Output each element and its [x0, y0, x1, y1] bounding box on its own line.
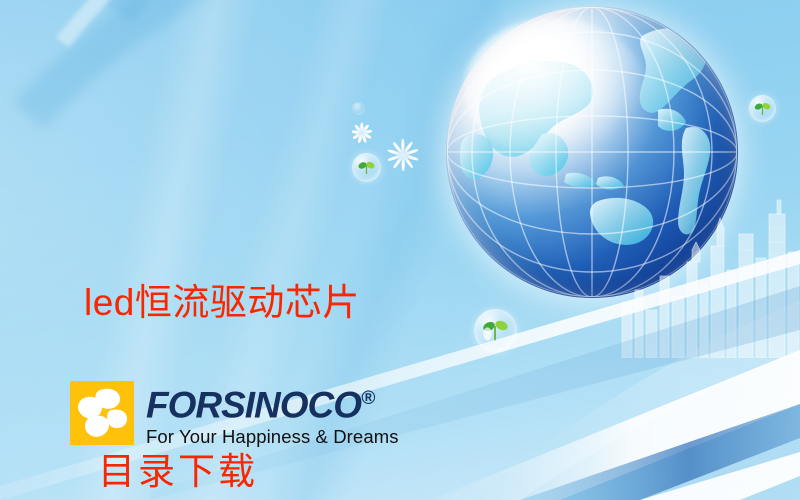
- registered-trademark-icon: ®: [361, 388, 375, 409]
- forsinoco-pinwheel-mark: [70, 381, 134, 445]
- company-logo: FORSINOCO® For Your Happiness & Dreams: [70, 381, 399, 447]
- product-banner: led恒流驱动芯片 目录下载 FORSINOCO® For Your Happi…: [0, 0, 800, 500]
- headline-cjk: 恒流驱动芯片: [135, 283, 360, 324]
- logo-text-block: FORSINOCO® For Your Happiness & Dreams: [146, 379, 399, 447]
- logo-tagline: For Your Happiness & Dreams: [146, 426, 399, 447]
- logo-wordmark-text: FORSINOCO: [146, 384, 361, 425]
- headline-text: led恒流驱动芯片 目录下载: [84, 163, 504, 500]
- logo-wordmark: FORSINOCO®: [146, 379, 399, 425]
- headline-latin: led: [84, 282, 135, 323]
- headline-line-1: led恒流驱动芯片: [84, 275, 504, 332]
- headline-line-2: 目录下载: [84, 445, 504, 500]
